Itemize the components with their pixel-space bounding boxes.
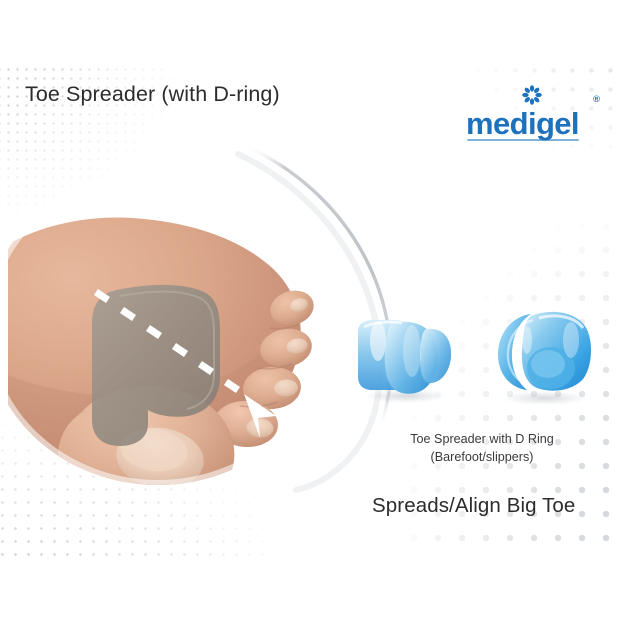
product-toe-spreader-d-ring <box>487 294 597 406</box>
caption-line-1: Toe Spreader with D Ring <box>410 432 554 446</box>
product-image-canvas: Toe Spreader (with D-ring) Toe Spreader … <box>0 0 620 620</box>
brand-underline <box>467 139 579 141</box>
caption-line-2: (Barefoot/slippers) <box>384 448 580 466</box>
tagline: Spreads/Align Big Toe <box>372 494 575 518</box>
foot-with-toe-spreader-photo <box>8 162 338 492</box>
registered-trademark-icon: ® <box>593 94 600 105</box>
flower-asterisk-icon <box>522 85 542 105</box>
brand-logo: medigel ® <box>466 85 598 143</box>
product-toe-spreader-body <box>352 307 456 403</box>
page-title: Toe Spreader (with D-ring) <box>25 82 280 107</box>
artwork-band: Toe Spreader (with D-ring) Toe Spreader … <box>0 62 620 558</box>
product-caption: Toe Spreader with D Ring (Barefoot/slipp… <box>384 430 580 467</box>
brand-name: medigel <box>466 108 579 139</box>
